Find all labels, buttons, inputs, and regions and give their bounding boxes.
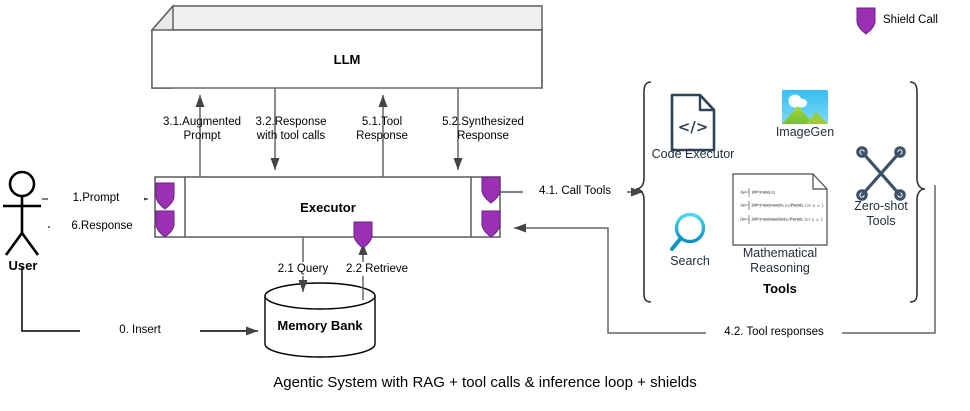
tool-label-code-executor: Code Executor — [638, 147, 748, 162]
llm-label: LLM — [152, 52, 542, 67]
svg-text:Bₙ = 2/P ∫ s(x)sin(2π(n/P)x)dx: Bₙ = 2/P ∫ s(x)sin(2π(n/P)x)dx for n ≥ 1 — [740, 217, 824, 222]
flow-prompt-label: 1.Prompt — [48, 191, 144, 205]
svg-text:</>: </> — [678, 118, 709, 136]
flow-tool-response-label: 5.1.Tool Response — [330, 115, 434, 143]
user-actor — [3, 172, 41, 255]
flow-tool-responses-label: 4.2. Tool responses — [706, 325, 842, 339]
flow-query-label: 2.1 Query — [266, 262, 340, 276]
executor-label: Executor — [185, 200, 471, 215]
shield-legend-icon — [857, 8, 875, 34]
tool-label-search: Search — [655, 254, 725, 269]
legend-shield-label: Shield Call — [883, 14, 938, 26]
flow-retrieve-label: 2.2 Retrieve — [335, 262, 419, 276]
memory-bank-label: Memory Bank — [265, 318, 375, 333]
flow-synthesized-response-label: 5.2.Synthesized Response — [425, 115, 541, 143]
flow-call-tools-label: 4.1. Call Tools — [523, 184, 627, 198]
crossed-wrenches-icon — [858, 148, 904, 199]
code-document-icon: </> — [672, 95, 714, 150]
user-label: User — [0, 258, 46, 273]
tool-label-zero-shot: Zero-shot Tools — [841, 199, 921, 229]
tool-label-math-reasoning: Mathematical Reasoning — [722, 246, 838, 276]
flow-response-label: 6.Response — [50, 219, 154, 233]
tools-group-label: Tools — [700, 281, 860, 296]
diagram-caption: Agentic System with RAG + tool calls & i… — [0, 374, 970, 391]
flow-insert-label: 0. Insert — [80, 323, 200, 337]
formula-document-icon: A₀ = 1/P ∫ s(x)dx Aₙ = 2/P ∫ s(x)cos(2π(… — [733, 174, 827, 245]
llm-node — [152, 6, 542, 88]
diagram-canvas: </> A₀ = 1/P ∫ s(x)dx Aₙ — [0, 0, 970, 411]
shield-executor-bottom-center — [354, 222, 372, 248]
svg-text:A₀ = 1/P ∫ s(x)dx: A₀ = 1/P ∫ s(x)dx — [739, 190, 776, 195]
tools-brace-right — [910, 82, 925, 302]
image-gen-icon — [782, 90, 828, 124]
flow-insert-line — [22, 266, 258, 331]
tool-label-image-gen: ImageGen — [765, 125, 845, 140]
svg-text:Aₙ = 2/P ∫ s(x)cos(2π(n/P)x)dx: Aₙ = 2/P ∫ s(x)cos(2π(n/P)x)dx for n ≥ 1 — [739, 203, 824, 208]
magnifier-icon — [672, 215, 704, 250]
